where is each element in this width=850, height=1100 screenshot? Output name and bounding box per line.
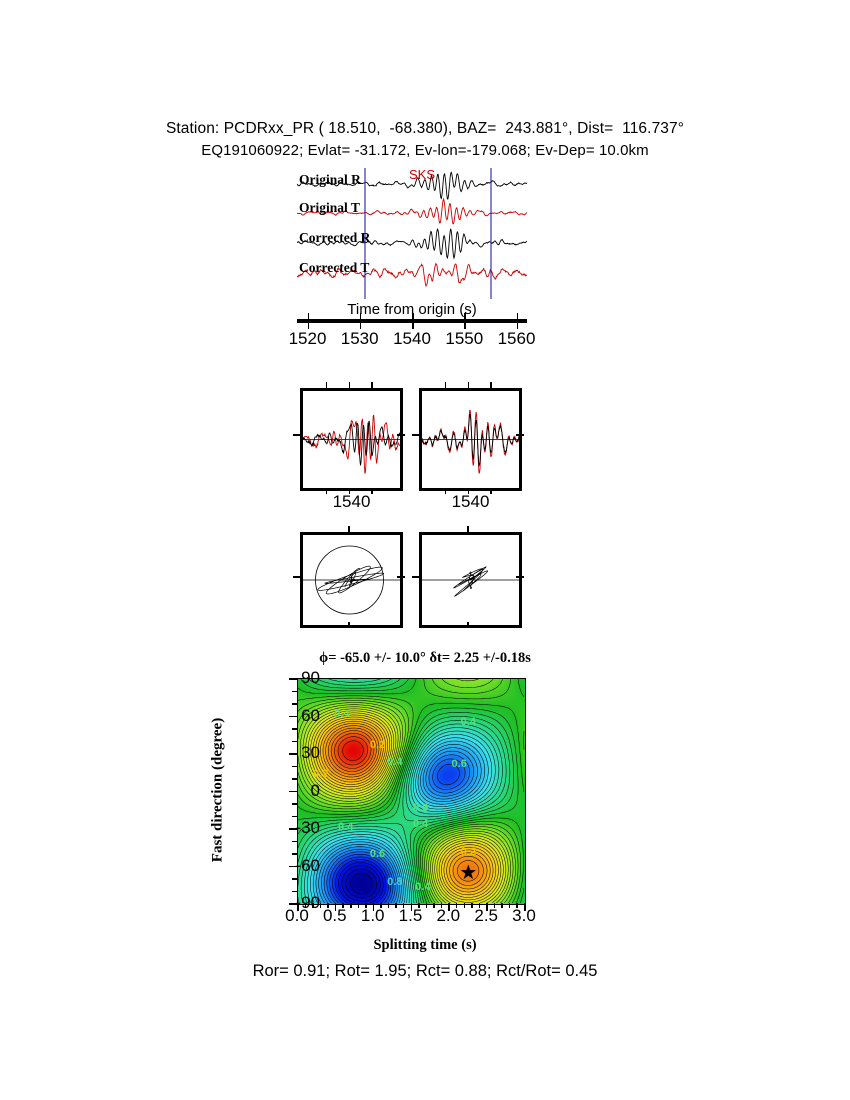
time-tick-label: 1540: [393, 329, 431, 349]
contour-label: 0.4: [334, 708, 349, 720]
contour-label: 0.4: [413, 818, 428, 830]
pm-box-tick-bottom: [467, 622, 469, 628]
compare-box-tick: [326, 488, 328, 494]
contour-xtick-minor: [358, 903, 360, 908]
contour-y-tick-label: -60: [260, 856, 320, 876]
compare-box-tick: [468, 382, 470, 388]
contour-x-tick-label: 2.0: [436, 906, 460, 926]
energy-grid-contour-plot[interactable]: 0.40.20.40.40.60.20.60.40.40.60.20.80.4 …: [297, 678, 526, 905]
contour-ytick-minor: [292, 778, 297, 780]
contour-ytick-minor: [292, 891, 297, 893]
compare-box-tick: [326, 382, 328, 388]
trace-label-original-r: Original R: [299, 172, 361, 188]
pm-box-tick-right: [397, 576, 405, 578]
contour-xtick-minor: [433, 903, 435, 908]
contour-label: 0.4: [461, 716, 476, 728]
contour-xtick-minor: [501, 903, 503, 908]
compare-box-tick: [490, 488, 492, 494]
contour-ytick-minor: [292, 816, 297, 818]
contour-label: 0.4: [338, 821, 353, 833]
contour-xtick-minor: [464, 903, 466, 908]
waveform-panel: Original R Original T Corrected R Correc…: [297, 166, 527, 301]
compare-box-tick: [445, 382, 447, 388]
contour-ytick-minor: [292, 841, 297, 843]
contour-label: 0.6: [452, 758, 467, 770]
time-tick-label: 1560: [498, 329, 536, 349]
contour-ytick-minor: [292, 766, 297, 768]
contour-plot-title: ϕ= -65.0 +/- 10.0° δt= 2.25 +/-0.18s: [0, 650, 850, 667]
contour-y-tick-label: 60: [260, 706, 320, 726]
compare-tick-label-left: 1540: [300, 492, 403, 512]
time-axis: Time from origin (s) 1520153015401550156…: [297, 305, 527, 355]
contour-label: 0.2: [461, 846, 476, 858]
contour-ytick-minor: [292, 728, 297, 730]
trace-label-corrected-t: Corrected T: [299, 260, 369, 276]
contour-ytick-minor: [292, 691, 297, 693]
contour-lines: [298, 679, 525, 904]
header-line-event: EQ191060922; Evlat= -31.172, Ev-lon=-179…: [0, 140, 850, 162]
contour-label: 0.2: [313, 768, 328, 780]
contour-label: 0.2: [370, 739, 385, 751]
compare-box-tick: [349, 488, 351, 494]
compare-box-tick: [445, 488, 447, 494]
contour-x-axis-label: Splitting time (s): [0, 937, 850, 954]
compare-traces-corrected: [422, 391, 519, 488]
contour-y-tick-label: 90: [260, 668, 320, 688]
pm-box-tick-top: [467, 526, 469, 532]
trace-label-corrected-r: Corrected R: [299, 230, 370, 246]
compare-traces-uncorrected: [303, 391, 400, 488]
quality-metrics-footer: Ror= 0.91; Rot= 1.95; Rct= 0.88; Rct/Rot…: [0, 962, 850, 981]
contour-label: 0.8: [387, 876, 402, 888]
contour-label: 0.6: [370, 848, 385, 860]
hodogram-corrected: [422, 535, 519, 625]
contour-xtick-minor: [350, 903, 352, 908]
contour-label: 0.4: [387, 756, 402, 768]
pm-box-tick-left: [293, 576, 301, 578]
contour-xtick-minor: [426, 903, 428, 908]
contour-y-tick-label: -90: [260, 893, 320, 913]
contour-ytick-minor: [292, 878, 297, 880]
time-tick-label: 1530: [341, 329, 379, 349]
header-line-station: Station: PCDRxx_PR ( 18.510, -68.380), B…: [0, 118, 850, 140]
splitting-analysis-figure: Station: PCDRxx_PR ( 18.510, -68.380), B…: [0, 0, 850, 1100]
contour-ytick-minor: [292, 741, 297, 743]
solution-star-marker: ★: [459, 863, 477, 883]
time-tick-label: 1550: [445, 329, 483, 349]
contour-xtick-minor: [395, 903, 397, 908]
compare-box-center-tick: [516, 434, 524, 436]
contour-xtick-minor: [509, 903, 511, 908]
compare-box-center-tick: [293, 434, 301, 436]
time-tick-label: 1520: [289, 329, 327, 349]
compare-tick-label-right: 1540: [419, 492, 522, 512]
compare-box-uncorrected: [300, 388, 403, 491]
compare-box-tick: [490, 382, 492, 388]
sks-phase-marker-label: SKS: [409, 167, 435, 182]
pm-box-tick-bottom: [348, 622, 350, 628]
contour-x-tick-label: 1.5: [399, 906, 423, 926]
trace-label-original-t: Original T: [299, 200, 360, 216]
compare-box-tick: [349, 382, 351, 388]
compare-box-tick: [371, 488, 373, 494]
pm-box-tick-right: [516, 576, 524, 578]
compare-box-tick: [371, 382, 373, 388]
compare-box-center-tick: [397, 434, 405, 436]
contour-y-axis-label: Fast direction (degree): [210, 718, 227, 862]
contour-ytick-minor: [292, 803, 297, 805]
contour-label: 0.4: [415, 881, 430, 893]
contour-y-tick-label: 0: [260, 781, 320, 801]
figure-header: Station: PCDRxx_PR ( 18.510, -68.380), B…: [0, 118, 850, 162]
contour-x-tick-label: 0.5: [323, 906, 347, 926]
contour-label: 0.6: [413, 802, 428, 814]
compare-box-corrected: [419, 388, 522, 491]
particle-motion-corrected: [419, 532, 522, 628]
compare-box-tick: [468, 488, 470, 494]
pm-box-tick-top: [348, 526, 350, 532]
contour-ytick-minor: [292, 703, 297, 705]
contour-x-tick-label: 1.0: [361, 906, 385, 926]
compare-box-center-tick: [412, 434, 420, 436]
contour-xtick-minor: [471, 903, 473, 908]
particle-motion-uncorrected: [300, 532, 403, 628]
hodogram-uncorrected: [303, 535, 400, 625]
contour-y-tick-label: -30: [260, 818, 320, 838]
pm-box-tick-left: [412, 576, 420, 578]
contour-ytick-minor: [292, 853, 297, 855]
contour-x-tick-label: 2.5: [474, 906, 498, 926]
contour-x-tick-label: 3.0: [512, 906, 536, 926]
contour-y-tick-label: 30: [260, 743, 320, 763]
contour-xtick-minor: [388, 903, 390, 908]
